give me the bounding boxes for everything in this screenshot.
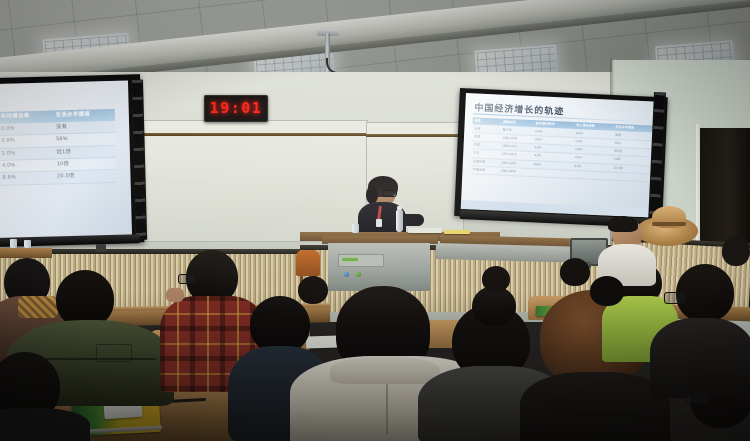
left-slide: 年均增长率 生活水平提高 0.0%没有0.9%56%2.0%近1倍4.0%10倍…: [0, 80, 132, 238]
clock-time-display: 19:01: [210, 101, 263, 116]
audience-head: [472, 286, 516, 326]
water-bottle: [396, 210, 403, 232]
lecturer-badge: [376, 219, 382, 227]
table-cell: [531, 168, 572, 178]
growth-rate-table: 年均增长率 生活水平提高 0.0%没有0.9%56%2.0%近1倍4.0%10倍…: [0, 109, 117, 186]
table-cell: 8.6%: [0, 171, 53, 185]
china-growth-table: 国家起始时间经济增长率/年收入增长倍数生活水平提高 全球数千年0.0%0.0%没…: [470, 117, 652, 182]
jacket-pocket: [96, 344, 132, 362]
lecture-hall-photo: 19:01 年均增长率 生活水平提高 0.0%没有0.9%56%2.0%近1倍4…: [0, 0, 750, 441]
podium-papers: [444, 230, 470, 234]
audience-glasses: [664, 292, 686, 304]
table-cell: [572, 170, 611, 180]
hat-band: [652, 222, 686, 226]
side-table-cup: [10, 239, 17, 248]
right-slide: 中国经济增长的轨迹 国家起始时间经济增长率/年收入增长倍数生活水平提高 全球数千…: [461, 93, 662, 218]
cup: [352, 224, 359, 233]
audience-body: [0, 408, 90, 441]
table-cell: [611, 172, 651, 182]
audience-hand: [166, 288, 184, 302]
lecturer-glasses: [383, 190, 397, 197]
side-table-cup: [24, 240, 31, 248]
audience-glasses: [686, 392, 708, 404]
right-screen-surface: 中国经济增长的轨迹 国家起始时间经济增长率/年收入增长倍数生活水平提高 全球数千…: [461, 93, 662, 218]
audience-patterned-collar: [18, 296, 58, 318]
whiteboard-rail: [128, 133, 366, 136]
audience-glasses: [178, 274, 196, 284]
podium-status-leds: [342, 258, 358, 261]
audience-head: [482, 266, 510, 292]
audience-head: [590, 276, 624, 306]
table-cell: 1981-2049: [499, 167, 532, 177]
table-row: 8.6%20.5倍: [0, 170, 117, 185]
audience-head: [298, 276, 328, 304]
table-cell: 中国全程: [470, 166, 499, 176]
audience-body: [520, 372, 670, 441]
podium-button[interactable]: [356, 272, 361, 277]
side-chair-back: [296, 250, 320, 276]
side-table: [0, 248, 52, 258]
audience-head: [560, 258, 590, 286]
podium-papers: [408, 228, 442, 233]
audience-hair: [608, 216, 638, 232]
table-cell: 20.5倍: [53, 170, 117, 184]
wall-clock: 19:01: [204, 95, 268, 122]
audience-head: [722, 236, 750, 266]
whiteboard: [128, 120, 368, 242]
whiteboard-rail: [366, 134, 462, 137]
left-screen-surface: 年均增长率 生活水平提高 0.0%没有0.9%56%2.0%近1倍4.0%10倍…: [0, 80, 132, 238]
podium-body: [328, 243, 430, 291]
screen-pull-knob: [96, 244, 106, 252]
bottle-cap: [397, 206, 402, 210]
hoodie-hood: [330, 356, 440, 384]
podium-button[interactable]: [344, 272, 349, 277]
